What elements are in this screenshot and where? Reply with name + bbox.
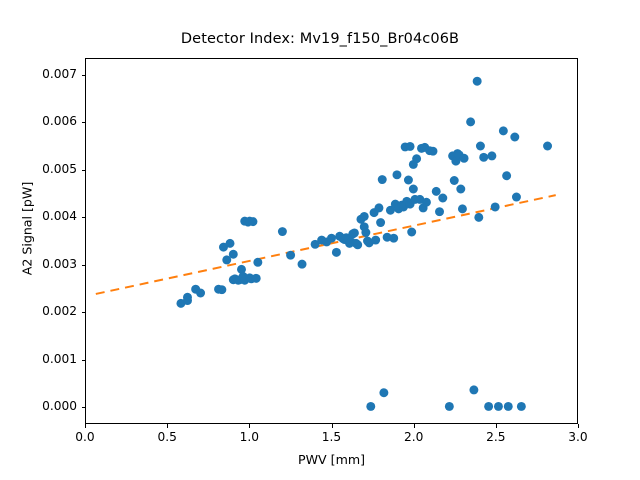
y-tick-mark [82,217,86,218]
x-axis-tick-labels: 0.00.51.01.52.02.53.0 [0,0,640,480]
x-tick-label: 1.0 [219,430,279,444]
x-tick-mark [496,424,497,428]
figure-canvas: Detector Index: Mv19_f150_Br04c06B 0.000… [0,0,640,480]
x-tick-mark [414,424,415,428]
y-tick-mark [82,407,86,408]
y-tick-mark [82,312,86,313]
y-tick-mark [82,360,86,361]
x-tick-mark [332,424,333,428]
y-tick-mark [82,170,86,171]
y-tick-mark [82,122,86,123]
x-tick-label: 0.0 [55,430,115,444]
x-axis-label: PWV [mm] [85,452,578,467]
y-tick-mark [82,265,86,266]
x-tick-label: 3.0 [548,430,608,444]
x-tick-mark [249,424,250,428]
x-tick-mark [85,424,86,428]
x-tick-label: 2.0 [384,430,444,444]
x-tick-mark [578,424,579,428]
y-tick-mark [82,75,86,76]
x-tick-label: 1.5 [302,430,362,444]
x-tick-mark [167,424,168,428]
x-tick-label: 0.5 [137,430,197,444]
y-axis-label: A2 Signal [pW] [20,129,35,329]
x-tick-label: 2.5 [466,430,526,444]
